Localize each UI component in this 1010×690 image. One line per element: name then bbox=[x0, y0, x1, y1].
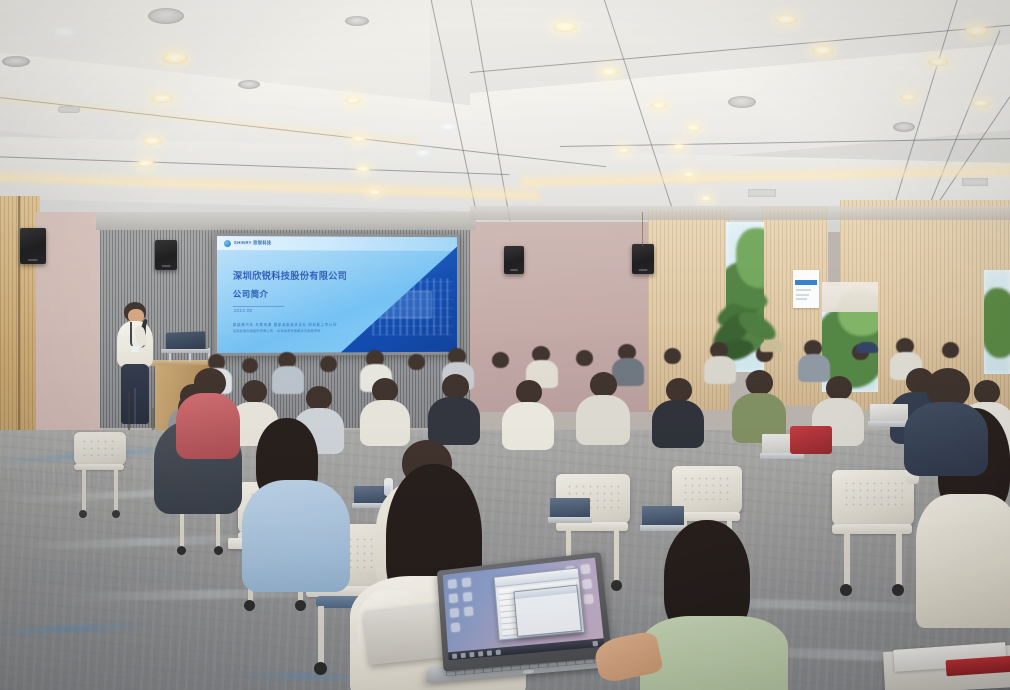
shirt bbox=[904, 402, 988, 476]
slide-title: 深圳欣锐科技股份有限公司 bbox=[233, 268, 347, 282]
company-logo-icon bbox=[224, 240, 231, 247]
ceiling-speaker bbox=[2, 56, 30, 67]
badge bbox=[131, 346, 139, 352]
ceiling-downlight bbox=[345, 97, 361, 104]
ceiling-vent bbox=[58, 106, 80, 113]
notice-header-bar bbox=[795, 280, 818, 285]
ceiling-downlight bbox=[440, 124, 456, 130]
slide-date: 2024.08 bbox=[234, 308, 252, 313]
ceiling-downlight bbox=[900, 94, 917, 101]
taskbar-icon[interactable] bbox=[461, 652, 466, 657]
attendee-far-left bbox=[176, 368, 242, 460]
desktop-icon[interactable] bbox=[580, 564, 590, 574]
ceiling-downlight bbox=[416, 150, 430, 156]
ceiling bbox=[0, 0, 1010, 232]
desktop-icon[interactable] bbox=[464, 607, 473, 617]
desktop-icon[interactable] bbox=[583, 594, 593, 604]
taskbar-icon[interactable] bbox=[478, 651, 483, 656]
meeting-room-photo: SHINRY 欣锐科技 深圳欣锐科技股份有限公司 公司简介 2024.08 新能… bbox=[0, 0, 1010, 690]
shirt bbox=[640, 616, 788, 690]
mic-cable bbox=[128, 392, 130, 432]
ceiling-vent bbox=[962, 178, 988, 186]
wall-speaker-left bbox=[155, 240, 177, 270]
laptop-lid bbox=[437, 552, 612, 672]
shirt bbox=[916, 494, 1010, 628]
ceiling-downlight bbox=[812, 46, 833, 55]
desktop-icon[interactable] bbox=[449, 594, 458, 604]
slide-divider bbox=[233, 306, 284, 307]
eyeglasses-icon bbox=[745, 378, 761, 384]
taskbar-icon[interactable] bbox=[469, 651, 474, 656]
modal-dialog[interactable] bbox=[513, 584, 582, 636]
ceiling-downlight bbox=[700, 196, 712, 201]
ceiling-speaker bbox=[148, 8, 184, 24]
desktop-icon[interactable] bbox=[450, 608, 459, 618]
ceiling-downlight bbox=[928, 58, 948, 66]
taskbar-icon[interactable] bbox=[496, 649, 501, 654]
ceiling-downlight bbox=[351, 136, 366, 142]
slide-tagline: 新能源汽车 车载电源 国家高新技术企业 科创板上市公司 bbox=[233, 322, 337, 327]
ceiling-speaker bbox=[345, 16, 369, 26]
chair[interactable] bbox=[74, 432, 130, 528]
shirt bbox=[176, 393, 240, 459]
ceiling-downlight bbox=[672, 144, 686, 150]
attendee-laptop[interactable] bbox=[548, 498, 592, 526]
presenter-legsplit bbox=[134, 388, 136, 424]
wall-speaker-right bbox=[504, 246, 524, 274]
wall-notice bbox=[793, 270, 819, 308]
chair[interactable] bbox=[832, 470, 918, 602]
desktop-icon[interactable] bbox=[582, 579, 592, 589]
ceiling-downlight bbox=[682, 172, 695, 177]
carpet-accent bbox=[0, 621, 160, 636]
ceiling-downlight bbox=[617, 148, 630, 153]
wall-speaker-far-left bbox=[20, 228, 46, 264]
ceiling-downlight bbox=[137, 160, 154, 167]
ceiling-downlight bbox=[686, 125, 701, 131]
soffit-shadow-right bbox=[470, 206, 1010, 220]
foreground-laptop[interactable] bbox=[421, 552, 628, 690]
ceiling-vent bbox=[748, 189, 776, 197]
desktop-icon[interactable] bbox=[448, 579, 457, 589]
slide-subtitle: 公司简介 bbox=[233, 288, 269, 300]
desktop-icon[interactable] bbox=[463, 592, 472, 602]
ceiling-downlight bbox=[775, 15, 797, 24]
desktop-icon[interactable] bbox=[451, 623, 460, 633]
beige-cap bbox=[760, 340, 784, 352]
laptop-screen[interactable] bbox=[443, 558, 605, 661]
taskbar-icon[interactable] bbox=[452, 653, 457, 658]
slide-logo: SHINRY 欣锐科技 bbox=[224, 240, 271, 247]
ceiling-downlight bbox=[600, 68, 618, 76]
red-bag bbox=[790, 426, 832, 454]
taskbar-icon[interactable] bbox=[487, 650, 492, 655]
ceiling-downlight bbox=[368, 190, 381, 195]
ceiling-downlight bbox=[965, 26, 989, 36]
ceiling-downlight bbox=[553, 22, 577, 32]
ceiling-downlight bbox=[972, 100, 990, 107]
desktop-icon[interactable] bbox=[462, 578, 471, 588]
taskbar-icon[interactable] bbox=[592, 640, 598, 646]
hp-logo-icon bbox=[523, 669, 535, 674]
window-blind bbox=[822, 282, 878, 312]
ceiling-downlight bbox=[162, 52, 188, 64]
ceiling-downlight bbox=[151, 94, 173, 103]
ceiling-downlight bbox=[143, 137, 162, 145]
windows-taskbar[interactable] bbox=[448, 638, 604, 660]
attendee-navy-polo bbox=[902, 368, 990, 478]
slide-logo-text: SHINRY 欣锐科技 bbox=[234, 240, 272, 247]
ceiling-downlight bbox=[651, 102, 667, 109]
wall-speaker-far-right bbox=[632, 244, 654, 274]
soffit-shadow bbox=[96, 212, 476, 230]
ceiling-downlight bbox=[52, 27, 78, 37]
attendee-blue-shirt bbox=[236, 418, 356, 598]
shirt bbox=[242, 480, 350, 592]
ceiling-speaker bbox=[238, 80, 260, 89]
speaker-cable-right bbox=[642, 212, 643, 246]
ceiling-speaker bbox=[728, 96, 756, 108]
attendee-ponytail bbox=[640, 520, 790, 690]
ceiling-downlight bbox=[356, 166, 370, 172]
slide-product-image bbox=[372, 278, 453, 335]
ceiling-speaker bbox=[893, 122, 915, 132]
